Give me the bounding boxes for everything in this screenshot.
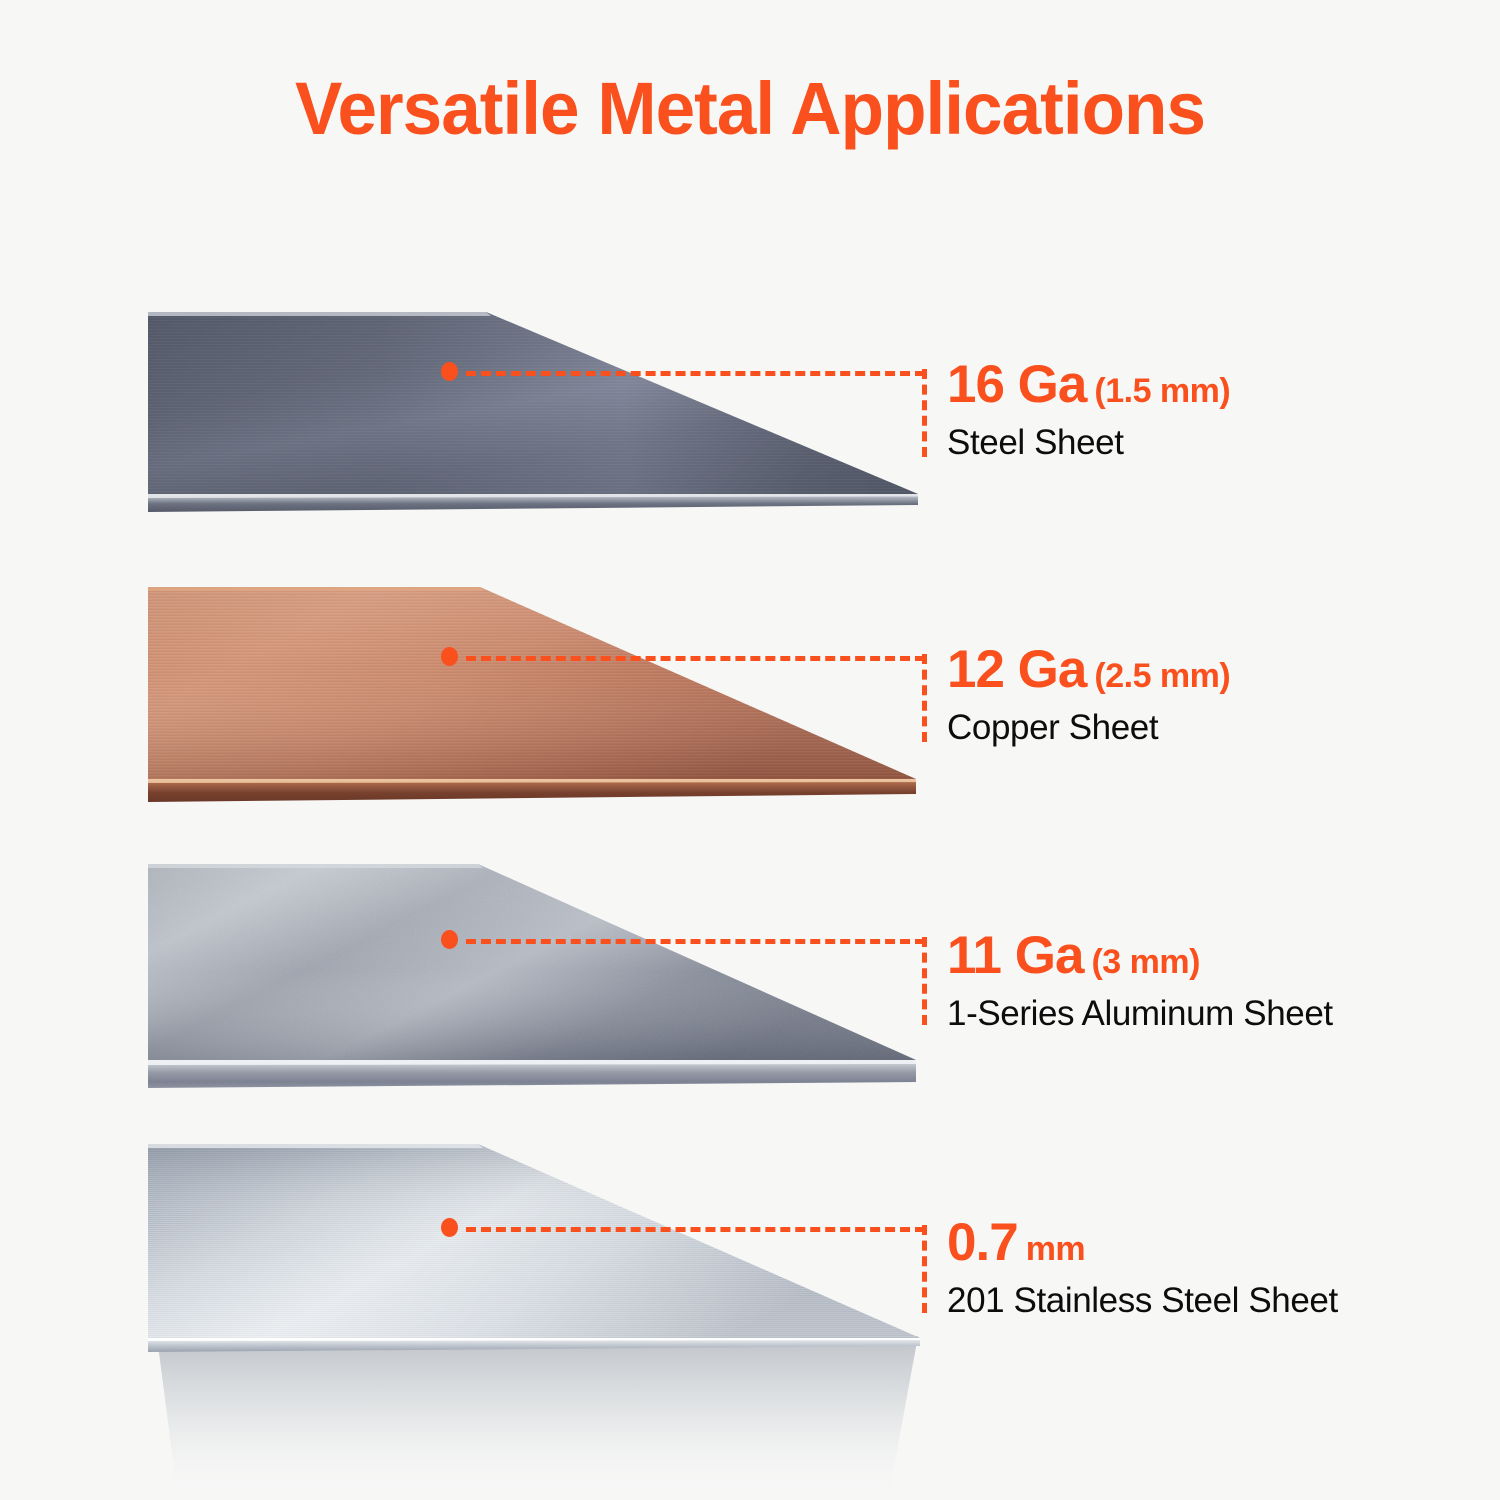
callout-label-copper: 12 Ga(2.5 mm) Copper Sheet [947,643,1230,745]
callout-gauge-row-stainless: 0.7mm [947,1216,1338,1269]
callout-gauge-row-steel: 16 Ga(1.5 mm) [947,358,1230,411]
callout-line-vertical-steel [922,369,927,457]
sheet-image-steel [148,308,918,533]
callout-name-stainless: 201 Stainless Steel Sheet [947,1283,1338,1318]
sheet-image-copper [148,583,918,813]
callout-line-horizontal-copper [466,656,925,661]
callout-metric-stainless: mm [1026,1230,1085,1268]
callout-dot-steel [441,362,458,381]
callout-label-stainless: 0.7mm 201 Stainless Steel Sheet [947,1216,1338,1318]
infographic-canvas: Versatile Metal Applications [0,0,1500,1500]
sheet-image-stainless [148,1140,928,1500]
callout-gauge-row-aluminum: 11 Ga(3 mm) [947,929,1333,982]
callout-metric-steel: (1.5 mm) [1094,372,1230,410]
callout-line-vertical-copper [922,654,927,742]
callout-line-vertical-aluminum [922,937,927,1025]
callout-name-aluminum: 1-Series Aluminum Sheet [947,996,1333,1031]
callout-line-horizontal-stainless [466,1227,925,1232]
callout-dot-copper [441,647,458,666]
callout-line-horizontal-steel [466,371,925,376]
sheet-image-aluminum [148,860,918,1100]
callout-gauge-steel: 16 Ga [947,355,1086,414]
callout-dot-aluminum [441,930,458,949]
callout-gauge-stainless: 0.7 [947,1213,1018,1272]
callout-gauge-aluminum: 11 Ga [947,926,1083,985]
callout-name-copper: Copper Sheet [947,710,1230,745]
callout-metric-copper: (2.5 mm) [1094,657,1230,695]
callout-label-aluminum: 11 Ga(3 mm) 1-Series Aluminum Sheet [947,929,1333,1031]
callout-label-steel: 16 Ga(1.5 mm) Steel Sheet [947,358,1230,460]
callout-gauge-row-copper: 12 Ga(2.5 mm) [947,643,1230,696]
callout-name-steel: Steel Sheet [947,425,1230,460]
callout-line-horizontal-aluminum [466,939,925,944]
callout-gauge-copper: 12 Ga [947,640,1086,699]
page-title: Versatile Metal Applications [30,72,1470,146]
callout-metric-aluminum: (3 mm) [1091,943,1199,981]
callout-dot-stainless [441,1218,458,1237]
callout-line-vertical-stainless [922,1225,927,1313]
